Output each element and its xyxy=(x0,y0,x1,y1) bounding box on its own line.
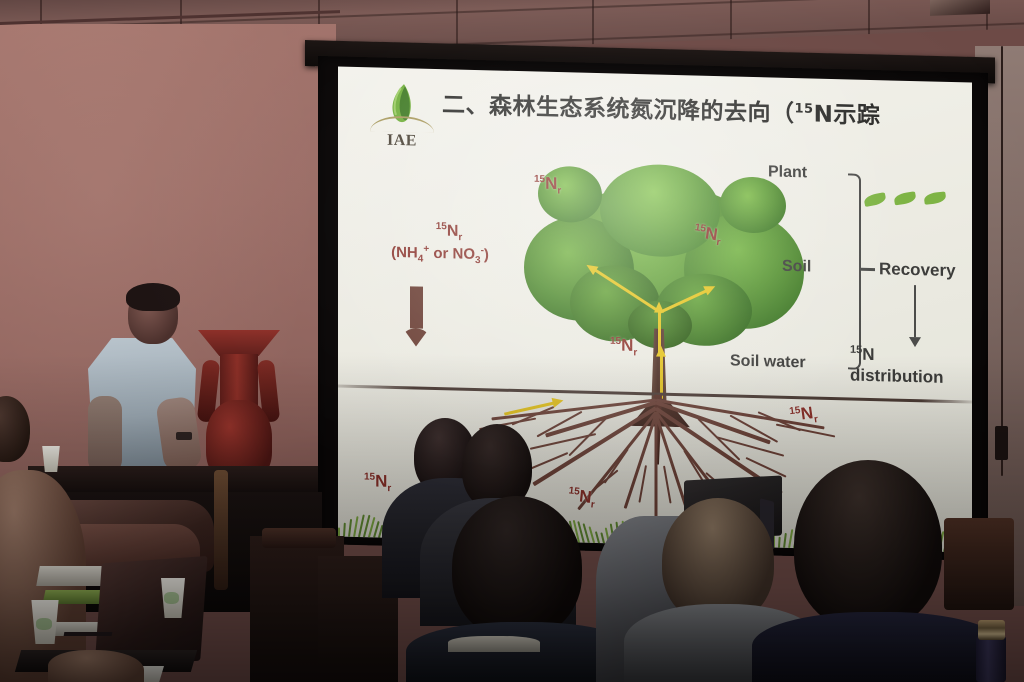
ceiling-light-fixture-secondary xyxy=(930,0,990,16)
deposition-label: 15Nr (NH4+ or NO3-) xyxy=(360,219,520,269)
slide-title-tail: N示踪 xyxy=(814,102,881,130)
slide-title-text: 二、森林生态系统氮沉降的去向（ xyxy=(442,92,795,127)
distribution-label: 15Ndistribution xyxy=(850,343,970,389)
grass-blade xyxy=(783,532,787,548)
deposition-tracer: 15Nr xyxy=(378,220,520,247)
tracer-tag-root-center: 15Nr xyxy=(567,485,597,511)
grass-blade xyxy=(778,537,781,548)
down-arrow-icon xyxy=(914,285,916,337)
audience-head xyxy=(452,496,582,638)
presenter-hair xyxy=(126,283,180,311)
iae-logo: IAE xyxy=(374,81,430,150)
chair-backrest xyxy=(944,518,1014,610)
grass-blade xyxy=(348,519,352,537)
tracer-tag-canopy-left: 15Nr xyxy=(534,173,561,196)
chair-backrest xyxy=(262,528,336,548)
grass-blade xyxy=(595,531,600,543)
thermos-flask xyxy=(976,636,1006,682)
pool-label-soil: Soil xyxy=(782,258,811,277)
recovery-label: Recovery xyxy=(879,259,956,281)
shirt-collar xyxy=(448,636,540,652)
tracer-tag-trunk: 15Nr xyxy=(610,335,637,358)
grass-blade xyxy=(600,532,605,543)
wall-jack xyxy=(995,426,1008,460)
audience-shoulders xyxy=(752,612,1004,682)
deposition-species: (NH4+ or NO3-) xyxy=(391,244,489,263)
ornate-vase xyxy=(196,330,282,482)
audience-head xyxy=(794,460,942,630)
slide-title-sup: 15 xyxy=(795,101,814,116)
tracer-tag-root-left: 15Nr xyxy=(364,471,391,494)
recovery-diagram: Plant Soil Soil water Recovery 15Ndistri… xyxy=(730,156,960,412)
pen xyxy=(64,632,113,636)
deposition-main: N xyxy=(447,223,459,240)
presenter-arm-left xyxy=(88,396,122,474)
thermos-cap xyxy=(978,620,1005,640)
tracer-tag-canopy-right: 15Nr xyxy=(693,222,723,249)
grass-blade xyxy=(343,523,346,537)
hand xyxy=(48,650,144,682)
deposition-sub: r xyxy=(458,232,462,243)
grouping-brace xyxy=(848,173,861,369)
leaf-logo-icon xyxy=(374,81,430,128)
iae-logo-text: IAE xyxy=(374,131,430,150)
seedling-leaves-icon xyxy=(864,190,954,210)
presenter-watch xyxy=(176,432,192,440)
pool-label-plant: Plant xyxy=(768,163,807,182)
conference-room-photo: IAE 二、森林生态系统氮沉降的去向（15N示踪 15Nr (NH4+ or N… xyxy=(0,0,1024,682)
slide-title: 二、森林生态系统氮沉降的去向（15N示踪 xyxy=(442,85,952,132)
pool-label-soil-water: Soil water xyxy=(730,352,806,372)
deposition-sup: 15 xyxy=(436,221,447,232)
wall-cable xyxy=(1001,46,1003,476)
